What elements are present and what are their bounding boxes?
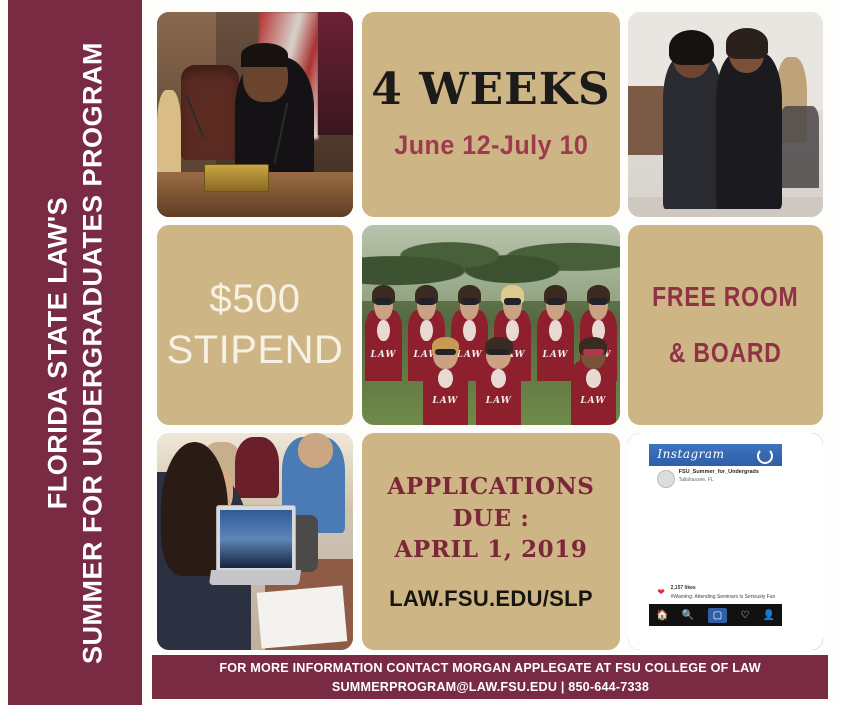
applications-line-1: APPLICATIONS [387, 471, 594, 503]
curtain-backdrop [318, 12, 353, 135]
heart-icon: ❤ [657, 587, 665, 598]
instagram-frame-prop: Instagram FSU_Summer_for_Undergrads Tall… [649, 444, 782, 626]
home-icon: 🏠 [656, 610, 668, 621]
instagram-scene: Instagram FSU_Summer_for_Undergrads Tall… [628, 433, 823, 650]
avatar [657, 470, 675, 488]
applications-text: APPLICATIONS DUE : APRIL 1, 2019 [387, 471, 594, 566]
background-student-3-head [298, 433, 333, 468]
sunglasses-icon [547, 298, 564, 305]
student-body [663, 57, 722, 209]
laptop [216, 505, 296, 576]
stipend-text: $500 STIPEND [167, 274, 344, 376]
laptop-keyboard [209, 570, 301, 585]
fsu-seal-icon [586, 369, 601, 388]
photo-judge-student [628, 12, 823, 217]
stipend-amount: $500 [167, 274, 344, 325]
content-grid: 4 WEEKS June 12-July 10 [157, 12, 823, 650]
panel-stipend: $500 STIPEND [157, 225, 353, 425]
sunglasses-icon [590, 298, 607, 305]
background-person [157, 90, 181, 172]
instagram-logo: Instagram [657, 447, 724, 461]
duration-dates: June 12-July 10 [394, 130, 588, 161]
photo-courtroom [157, 12, 353, 217]
paper-handout [257, 586, 348, 650]
judge-hair [726, 28, 769, 59]
robed-student-hair [241, 43, 288, 68]
free-room-text: FREE ROOM & BOARD [652, 269, 798, 381]
group-member: LAW [567, 337, 620, 425]
instagram-topbar: Instagram [649, 444, 782, 466]
free-room-line-2: & BOARD [652, 325, 798, 381]
photo-classroom [157, 433, 353, 650]
courtroom-scene [157, 12, 353, 217]
free-room-line-1: FREE ROOM [652, 269, 798, 325]
application-url[interactable]: LAW.FSU.EDU/SLP [389, 586, 593, 612]
sunglasses-icon [418, 298, 435, 305]
group-member: LAW [419, 337, 472, 425]
wall-stripe [792, 433, 823, 650]
instagram-caption: #Warning: Attending Seminars Is Seriousl… [671, 594, 776, 600]
footer-line-2[interactable]: SUMMERPROGRAM@LAW.FSU.EDU | 850-644-7338 [331, 677, 648, 697]
instagram-username: FSU_Summer_for_Undergrads [679, 469, 759, 475]
applications-line-2: DUE : [387, 503, 594, 535]
classroom-scene [157, 433, 353, 650]
vertical-title-band: FLORIDA STATE LAW'S SUMMER FOR UNDERGRAD… [8, 0, 142, 705]
photo-instagram-frame: Instagram FSU_Summer_for_Undergrads Tall… [628, 433, 823, 650]
contact-footer: FOR MORE INFORMATION CONTACT MORGAN APPL… [152, 655, 828, 699]
leather-chair [181, 65, 240, 159]
poster-title: FLORIDA STATE LAW'S SUMMER FOR UNDERGRAD… [40, 8, 109, 698]
camera-icon: ▢ [708, 608, 727, 623]
heart-icon: ♡ [741, 610, 750, 621]
shirt-text: LAW [419, 396, 472, 406]
applications-line-3: APRIL 1, 2019 [387, 534, 594, 566]
sunglasses-icon [488, 349, 509, 355]
frame-cutout [661, 488, 770, 583]
shirt-text: LAW [567, 396, 620, 406]
sunglasses-icon [375, 298, 392, 305]
stipend-label: STIPEND [167, 325, 344, 376]
panel-duration: 4 WEEKS June 12-July 10 [362, 12, 620, 217]
instagram-likes-row: ❤ 2,157 likes #Warning: Attending Semina… [649, 582, 782, 604]
refresh-icon [757, 448, 773, 464]
laptop-screen [220, 510, 292, 568]
fsu-seal-icon [438, 369, 453, 388]
judge-robe [716, 53, 782, 209]
student-hair [669, 30, 714, 65]
background-person-2 [780, 106, 819, 188]
judge-student-scene [628, 12, 823, 217]
panel-applications: APPLICATIONS DUE : APRIL 1, 2019 LAW.FSU… [362, 433, 620, 650]
group-front-row: LAW LAW LAW [362, 337, 620, 425]
sunglasses-icon [435, 349, 456, 355]
instagram-post-header: FSU_Summer_for_Undergrads Tallahassee, F… [649, 466, 782, 488]
group-scene: LAW LAW LAW [362, 225, 620, 425]
duration-headline: 4 WEEKS [371, 68, 610, 112]
instagram-navbar: 🏠 🔍 ▢ ♡ 👤 [649, 604, 782, 626]
poster-canvas: FLORIDA STATE LAW'S SUMMER FOR UNDERGRAD… [0, 0, 841, 705]
sunglasses-icon [461, 298, 478, 305]
group-member: LAW [472, 337, 525, 425]
title-line-2: SUMMER FOR UNDERGRADUATES PROGRAM [75, 8, 110, 698]
brass-nameplate [204, 164, 269, 193]
title-line-1: FLORIDA STATE LAW'S [40, 8, 75, 698]
shirt-text: LAW [472, 396, 525, 406]
footer-line-1: FOR MORE INFORMATION CONTACT MORGAN APPL… [219, 658, 760, 678]
photo-group: LAW LAW LAW [362, 225, 620, 425]
sunglasses-icon [583, 349, 604, 355]
search-icon: 🔍 [682, 610, 694, 621]
instagram-location: Tallahassee, FL [679, 477, 714, 483]
sunglasses-icon [504, 298, 521, 305]
instagram-likes-count: 2,157 likes [671, 585, 696, 591]
panel-free-room-board: FREE ROOM & BOARD [628, 225, 823, 425]
profile-icon: 👤 [763, 610, 775, 621]
wall-decor-2 [786, 489, 792, 505]
background-student-2 [235, 437, 278, 498]
